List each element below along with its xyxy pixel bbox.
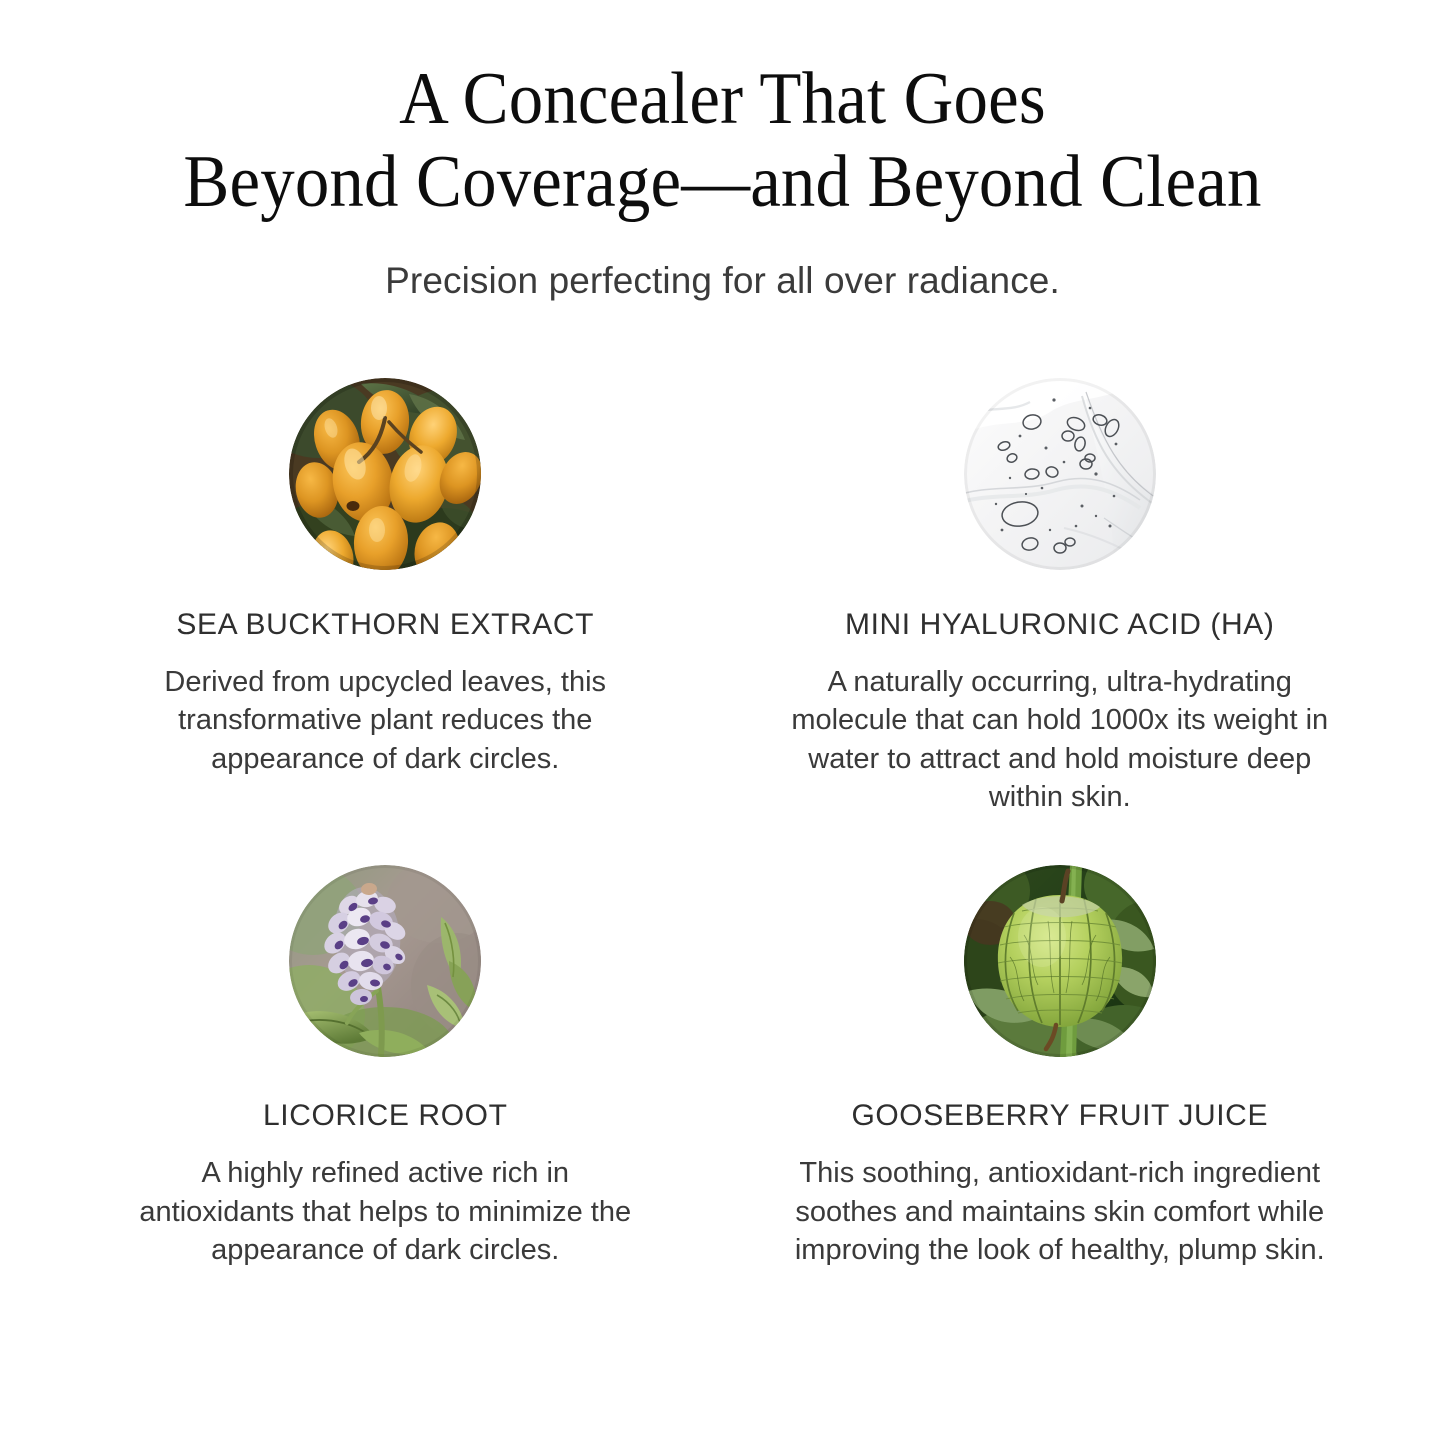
sea-buckthorn-berries-photo [289,378,481,570]
gooseberry-fruit-photo [964,865,1156,1057]
headline-line-2: Beyond Coverage—and Beyond Clean [51,141,1395,224]
ingredient-card-gooseberry: GOOSEBERRY FRUIT JUICE This soothing, an… [723,865,1398,1270]
ingredient-benefits-graphic: A Concealer That Goes Beyond Coverage—an… [0,0,1445,1445]
page-title: A Concealer That Goes Beyond Coverage—an… [51,58,1395,224]
hyaluronic-acid-gel-texture-photo [964,378,1156,570]
ingredient-card-licorice-root: LICORICE ROOT A highly refined active ri… [48,865,723,1270]
ingredients-grid: SEA BUCKTHORN EXTRACT Derived from upcyc… [0,378,1445,1270]
ingredient-title: SEA BUCKTHORN EXTRACT [176,608,594,641]
ingredient-description: Derived from upcycled leaves, this trans… [130,663,640,779]
ingredient-title: GOOSEBERRY FRUIT JUICE [851,1099,1268,1132]
ingredient-description: This soothing, antioxidant-rich ingredie… [790,1154,1330,1270]
ingredient-title: LICORICE ROOT [263,1099,508,1132]
ingredient-card-sea-buckthorn: SEA BUCKTHORN EXTRACT Derived from upcyc… [48,378,723,817]
ingredient-card-hyaluronic-acid: MINI HYALURONIC ACID (HA) A naturally oc… [723,378,1398,817]
headline-line-1: A Concealer That Goes [51,58,1395,141]
header: A Concealer That Goes Beyond Coverage—an… [0,0,1445,302]
ingredient-description: A naturally occurring, ultra-hydrating m… [790,663,1330,817]
page-subtitle: Precision perfecting for all over radian… [0,260,1445,302]
licorice-root-flower-photo [289,865,481,1057]
ingredient-description: A highly refined active rich in antioxid… [130,1154,640,1270]
ingredient-title: MINI HYALURONIC ACID (HA) [845,608,1274,641]
